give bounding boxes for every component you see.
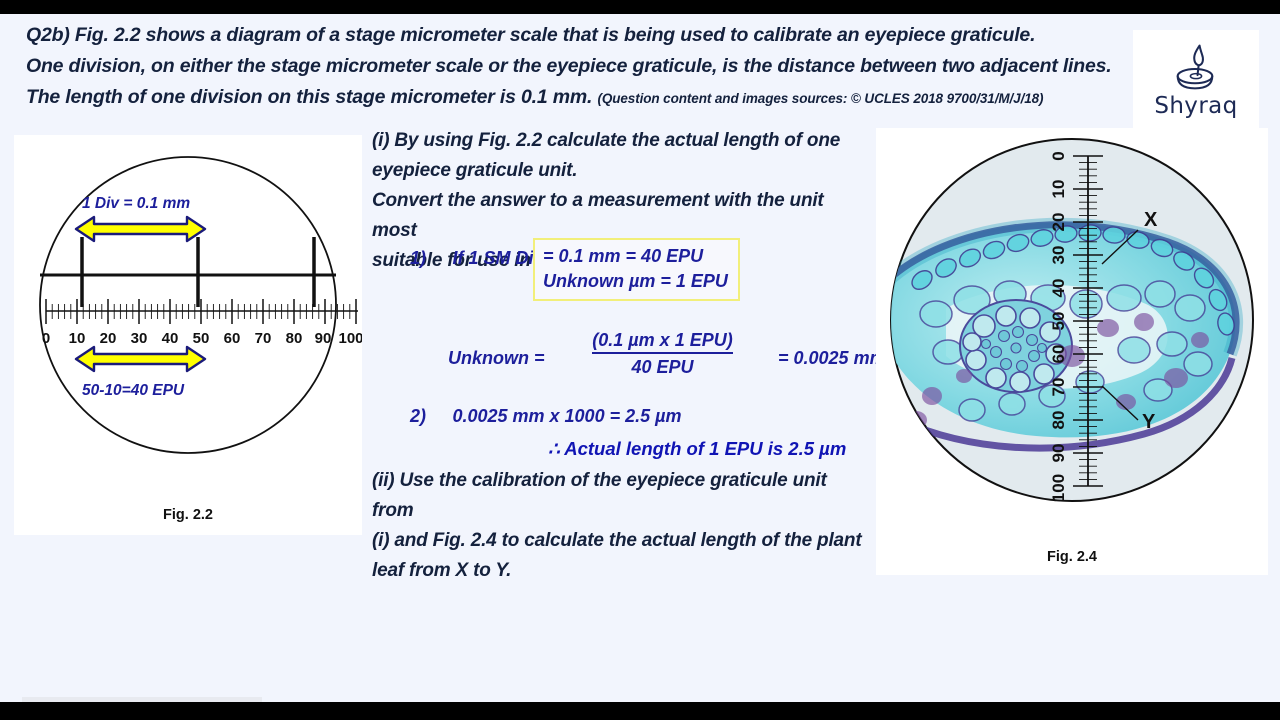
graticule-label-40: 40: [162, 330, 179, 347]
highlight-line-1: = 0.1 mm = 40 EPU: [543, 244, 728, 269]
step-1-label: If 1 SM Div: [452, 248, 543, 268]
step-1-row: 1) If 1 SM Div: [410, 248, 543, 269]
prompt-line-1: Q2b) Fig. 2.2 shows a diagram of a stage…: [26, 20, 1116, 51]
step-2-text: 0.0025 mm x 1000 = 2.5 µm: [452, 406, 681, 426]
conclusion-statement: ∴ Actual length of 1 EPU is 2.5 µm: [548, 438, 846, 460]
scale24-label-50: 50: [1049, 312, 1068, 331]
scale24-label-30: 30: [1049, 246, 1068, 265]
scale24-label-0: 0: [1049, 151, 1068, 160]
figure-22-graphic: 0 10 20 30 40 50 60 70 80 90 100 1 D: [14, 135, 362, 503]
part-i-line-2: eyepiece graticule unit.: [372, 156, 867, 186]
graticule-label-0: 0: [42, 330, 50, 347]
scale24-label-60: 60: [1049, 345, 1068, 364]
part-ii-line-1: (ii) Use the calibration of the eyepiece…: [372, 466, 867, 526]
fraction: (0.1 µm x 1 EPU) 40 EPU: [570, 330, 755, 378]
fraction-result: = 0.0025 mm: [778, 348, 886, 369]
annotation-one-division: 1 Div = 0.1 mm: [82, 195, 190, 212]
question-prompt: Q2b) Fig. 2.2 shows a diagram of a stage…: [26, 20, 1116, 114]
prompt-line-3-text: The length of one division on this stage…: [26, 86, 592, 108]
marker-x-label: X: [1144, 209, 1158, 231]
step-2-row: 2) 0.0025 mm x 1000 = 2.5 µm: [410, 406, 682, 427]
prompt-line-3: The length of one division on this stage…: [26, 82, 1116, 114]
scale24-label-90: 90: [1049, 444, 1068, 463]
step-1-number: 1): [410, 248, 448, 269]
oil-lamp-flame-icon: [1168, 43, 1224, 95]
slide-canvas: Q2b) Fig. 2.2 shows a diagram of a stage…: [0, 0, 1280, 720]
graticule-label-30: 30: [131, 330, 148, 347]
part-ii-line-3: leaf from X to Y.: [372, 556, 867, 586]
fraction-numerator: (0.1 µm x 1 EPU): [592, 330, 732, 354]
header-region: Q2b) Fig. 2.2 shows a diagram of a stage…: [0, 14, 1280, 123]
graticule-label-60: 60: [224, 330, 241, 347]
scale24-label-80: 80: [1049, 411, 1068, 430]
prompt-line-2: One division, on either the stage microm…: [26, 51, 1116, 82]
graticule-label-50: 50: [193, 330, 210, 347]
figure-24-caption: Fig. 2.4: [876, 549, 1268, 565]
annotation-epu-count: 50-10=40 EPU: [82, 382, 185, 399]
step-2-number: 2): [410, 406, 448, 427]
scale24-label-40: 40: [1049, 279, 1068, 298]
highlight-line-2: Unknown µm = 1 EPU: [543, 269, 728, 294]
bottom-letterbox-bar: [0, 702, 1280, 720]
fraction-denominator: 40 EPU: [570, 357, 755, 378]
source-citation: (Question content and images sources: © …: [597, 91, 1043, 106]
scale24-label-20: 20: [1049, 213, 1068, 232]
graticule-label-20: 20: [100, 330, 117, 347]
fraction-lead-label: Unknown =: [448, 348, 545, 369]
top-letterbox-bar: [0, 0, 1280, 14]
logo-wordmark: Shyraq: [1154, 93, 1237, 119]
marker-y-label: Y: [1142, 411, 1156, 433]
part-ii-line-2: (i) and Fig. 2.4 to calculate the actual…: [372, 526, 867, 556]
graticule-label-90: 90: [315, 330, 332, 347]
brand-logo: Shyraq: [1133, 30, 1259, 131]
figure-22-panel: 0 10 20 30 40 50 60 70 80 90 100 1 D: [14, 135, 362, 535]
figure-24-panel: 0 10 20 30 40 50 60 70 80 90 100: [876, 128, 1268, 575]
graticule-label-70: 70: [255, 330, 272, 347]
highlight-equation-box: = 0.1 mm = 40 EPU Unknown µm = 1 EPU: [533, 238, 740, 301]
scale24-label-100: 100: [1049, 474, 1068, 502]
graticule-label-80: 80: [286, 330, 303, 347]
graticule-label-100: 100: [338, 330, 362, 347]
graticule-label-10: 10: [69, 330, 86, 347]
scale24-label-10: 10: [1049, 180, 1068, 199]
worked-solution-column: (i) By using Fig. 2.2 calculate the actu…: [368, 126, 868, 556]
question-part-ii: (ii) Use the calibration of the eyepiece…: [372, 466, 867, 586]
eyepiece-graticule-diagram: 0 10 20 30 40 50 60 70 80 90 100 1 D: [14, 135, 362, 503]
micrograph-with-graticule: 0 10 20 30 40 50 60 70 80 90 100: [876, 128, 1268, 528]
part-i-line-3: Convert the answer to a measurement with…: [372, 186, 867, 246]
part-i-line-1: (i) By using Fig. 2.2 calculate the actu…: [372, 126, 867, 156]
figure-22-caption: Fig. 2.2: [14, 507, 362, 523]
scale24-label-70: 70: [1049, 378, 1068, 397]
figure-24-graphic: 0 10 20 30 40 50 60 70 80 90 100: [876, 128, 1268, 528]
